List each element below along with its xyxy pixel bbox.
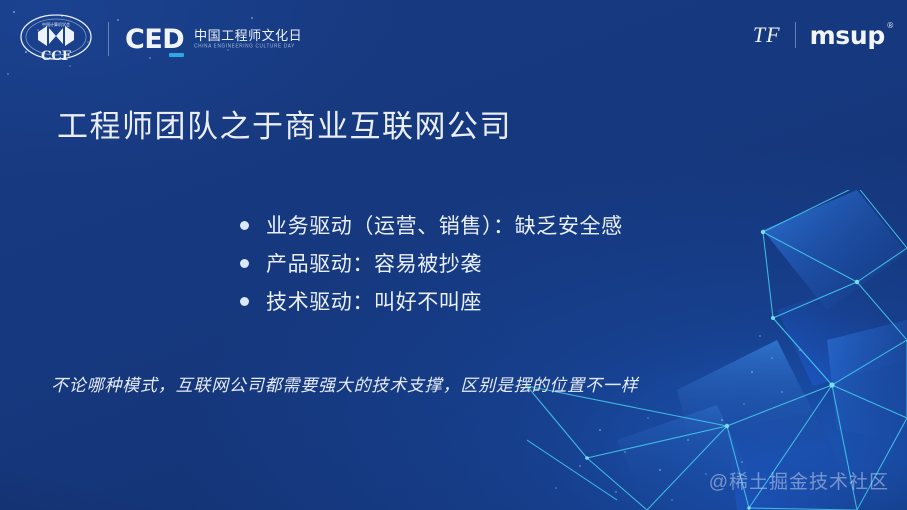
watermark: @稀土掘金技术社区 <box>709 467 889 494</box>
list-item-label: 技术驱动：叫好不叫座 <box>266 286 482 316</box>
page-title: 工程师团队之于商业互联网公司 <box>57 101 512 146</box>
msup-logo-text: msup <box>810 21 885 50</box>
msup-logo: msup ® <box>810 23 885 48</box>
ced-name-cn: 中国工程师文化日 <box>194 29 302 43</box>
footnote-text: 不论哪种模式，互联网公司都需要强大的技术支撑，区别是摆的位置不一样 <box>51 371 638 396</box>
ced-logo-group: CED 中国工程师文化日 CHINA ENGINEERING CULTURE D… <box>125 26 302 53</box>
list-item-label: 产品驱动：容易被抄袭 <box>266 248 482 278</box>
bullet-dot-icon <box>240 297 249 306</box>
logo-divider-right <box>795 22 796 48</box>
bullet-dot-icon <box>240 221 249 230</box>
ced-name-block: 中国工程师文化日 CHINA ENGINEERING CULTURE DAY <box>194 29 302 49</box>
right-logo-group: TF msup ® <box>753 22 885 48</box>
bullet-list: 业务驱动（运营、销售）：缺乏安全感 产品驱动：容易被抄袭 技术驱动：叫好不叫座 <box>240 207 623 321</box>
ced-name-en: CHINA ENGINEERING CULTURE DAY <box>194 44 302 50</box>
ccf-oval-logo-icon: 中国计算机学会 CCF <box>18 10 94 68</box>
svg-text:CCF: CCF <box>41 49 72 64</box>
tf-logo: TF <box>753 22 781 48</box>
svg-text:中国计算机学会: 中国计算机学会 <box>42 21 70 27</box>
slide: 中国计算机学会 CCF CED 中国工程师文化日 CHINA ENGINEERI… <box>0 0 907 510</box>
registered-mark-icon: ® <box>886 22 894 30</box>
list-item: 业务驱动（运营、销售）：缺乏安全感 <box>240 207 623 243</box>
logo-divider <box>108 22 109 56</box>
bullet-dot-icon <box>240 259 249 268</box>
slide-header: 中国计算机学会 CCF CED 中国工程师文化日 CHINA ENGINEERI… <box>0 0 907 78</box>
ced-mark: CED <box>125 26 184 53</box>
left-logo-group: 中国计算机学会 CCF CED 中国工程师文化日 CHINA ENGINEERI… <box>18 9 302 69</box>
list-item: 技术驱动：叫好不叫座 <box>240 283 623 319</box>
list-item: 产品驱动：容易被抄袭 <box>240 245 623 281</box>
ced-underbar <box>169 53 184 57</box>
list-item-label: 业务驱动（运营、销售）：缺乏安全感 <box>266 210 623 240</box>
ced-mark-text: CED <box>125 24 184 55</box>
